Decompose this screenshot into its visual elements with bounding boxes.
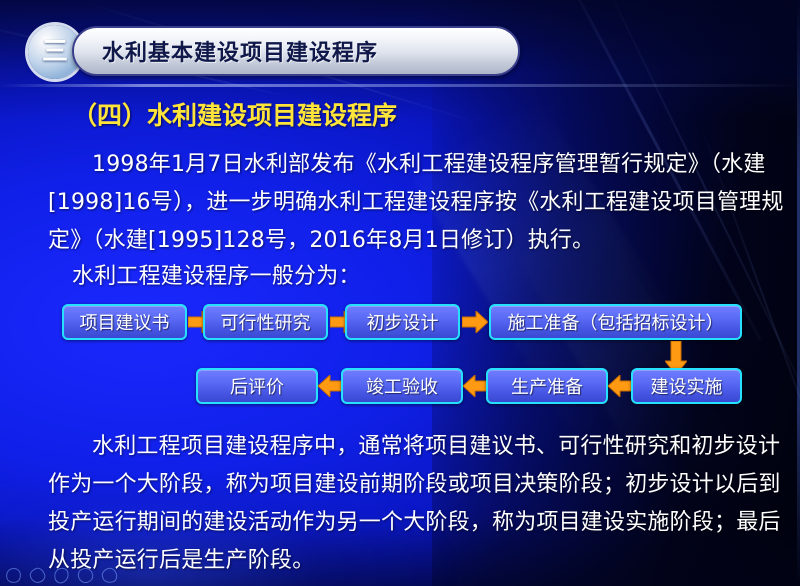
flow-box-construction-preparation[interactable]: 施工准备（包括招标设计） — [489, 304, 742, 340]
badge-glyph: 三 — [42, 39, 68, 65]
flow-box-label: 生产准备 — [511, 373, 583, 399]
flow-box-post-evaluation[interactable]: 后评价 — [196, 368, 318, 404]
flow-box-label: 建设实施 — [651, 373, 723, 399]
paragraph-stages-intro: 水利工程建设程序一般分为： — [72, 258, 772, 296]
flow-box-label: 后评价 — [230, 373, 284, 399]
decorative-glyph-icon — [76, 566, 95, 585]
paragraph-stage-explanation: 水利工程项目建设程序中，通常将项目建议书、可行性研究和初步设计作为一个大阶段，称… — [48, 428, 796, 580]
paragraph-regulations: 1998年1月7日水利部发布《水利工程建设程序管理暂行规定》（水建[1998]1… — [48, 146, 792, 260]
section-heading: （四）水利建设项目建设程序 — [72, 96, 397, 132]
header-title-pill: 水利基本建设项目建设程序 — [72, 26, 520, 76]
flow-box-production-preparation[interactable]: 生产准备 — [486, 368, 608, 404]
flow-box-preliminary-design[interactable]: 初步设计 — [345, 304, 460, 340]
decorative-glyph-strip — [6, 568, 117, 583]
decorative-glyph-icon — [28, 566, 47, 585]
flow-box-label: 项目建议书 — [80, 309, 170, 335]
decorative-glyph-icon — [100, 566, 119, 585]
flow-box-label: 可行性研究 — [221, 309, 311, 335]
construction-procedure-flowchart: 项目建议书 可行性研究 初步设计 施工准备（包括招标设计） 后评价 — [0, 296, 800, 420]
flow-box-completion-acceptance[interactable]: 竣工验收 — [341, 368, 463, 404]
flow-arrow-right-3 — [462, 311, 488, 333]
flow-box-label: 初步设计 — [367, 309, 439, 335]
flow-box-feasibility-study[interactable]: 可行性研究 — [203, 304, 328, 340]
decorative-glyph-icon — [4, 566, 23, 585]
page-title: 水利基本建设项目建设程序 — [74, 35, 378, 67]
flow-box-project-proposal[interactable]: 项目建议书 — [62, 304, 187, 340]
slide-header: 三 水利基本建设项目建设程序 — [0, 0, 800, 90]
slide: 三 水利基本建设项目建设程序 （四）水利建设项目建设程序 1998年1月7日水利… — [0, 0, 800, 586]
flow-box-construction-implementation[interactable]: 建设实施 — [631, 368, 742, 404]
flow-box-label: 竣工验收 — [366, 373, 438, 399]
header-underline — [0, 84, 800, 87]
flow-box-label: 施工准备（包括招标设计） — [508, 309, 724, 335]
decorative-glyph-icon — [52, 566, 71, 585]
